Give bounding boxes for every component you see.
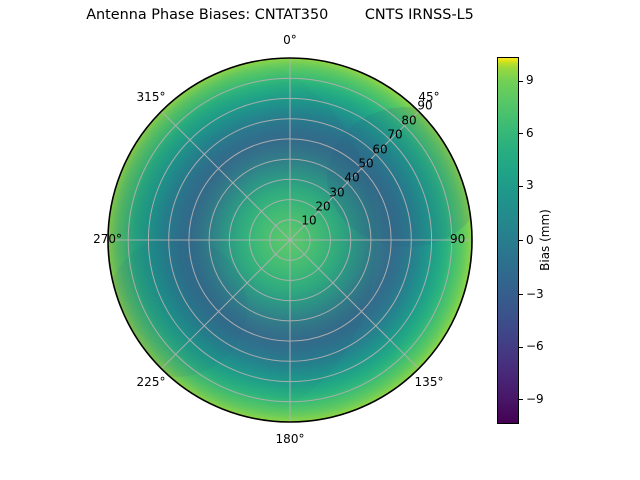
- colorbar-tickmark: [519, 294, 523, 295]
- angular-tick-315: 315°: [111, 90, 191, 104]
- angular-tick-135: 135°: [389, 375, 469, 389]
- angular-tick-180: 180°: [250, 432, 330, 446]
- colorbar-tickmark: [519, 240, 523, 241]
- colorbar-tickmark: [519, 347, 523, 348]
- colorbar-gradient: [497, 57, 519, 424]
- colorbar-ticklabel: 9: [526, 73, 534, 87]
- colorbar[interactable]: 9 6 3 0 −3 −6: [497, 57, 519, 424]
- angular-tick-0: 0°: [250, 33, 330, 47]
- colorbar-ticklabel: −3: [526, 287, 544, 301]
- polar-plot-svg: 10 20 30 40 50 60 70 80 90: [107, 57, 473, 423]
- angular-tick-45: 45°: [389, 90, 469, 104]
- polar-axes[interactable]: 10 20 30 40 50 60 70 80 90 0° 45° 90 135…: [107, 57, 473, 423]
- angular-tick-225: 225°: [111, 375, 191, 389]
- radial-tick-40: 40: [344, 171, 359, 185]
- colorbar-ticklabel: 3: [526, 178, 534, 192]
- colorbar-ticklabel: 0: [526, 233, 534, 247]
- radial-tick-70: 70: [387, 128, 402, 142]
- angular-tick-270: 270°: [42, 232, 122, 246]
- radial-tick-50: 50: [358, 157, 373, 171]
- colorbar-ticklabel: 6: [526, 126, 534, 140]
- colorbar-tickmark: [519, 399, 523, 400]
- colorbar-tickmark: [519, 186, 523, 187]
- colorbar-tickmark: [519, 81, 523, 82]
- page-title: Antenna Phase Biases: CNTAT350 CNTS IRNS…: [0, 7, 560, 23]
- colorbar-axis-label: Bias (mm): [538, 209, 552, 271]
- radial-tick-10: 10: [301, 214, 316, 228]
- radial-tick-80: 80: [401, 114, 416, 128]
- radial-tick-20: 20: [315, 200, 330, 214]
- polar-grid: [108, 58, 472, 422]
- radial-tick-60: 60: [372, 143, 387, 157]
- colorbar-tickmark: [519, 133, 523, 134]
- figure-canvas: Antenna Phase Biases: CNTAT350 CNTS IRNS…: [0, 0, 640, 480]
- colorbar-ticklabel: −6: [526, 339, 544, 353]
- colorbar-ticklabel: −9: [526, 392, 544, 406]
- radial-tick-30: 30: [329, 186, 344, 200]
